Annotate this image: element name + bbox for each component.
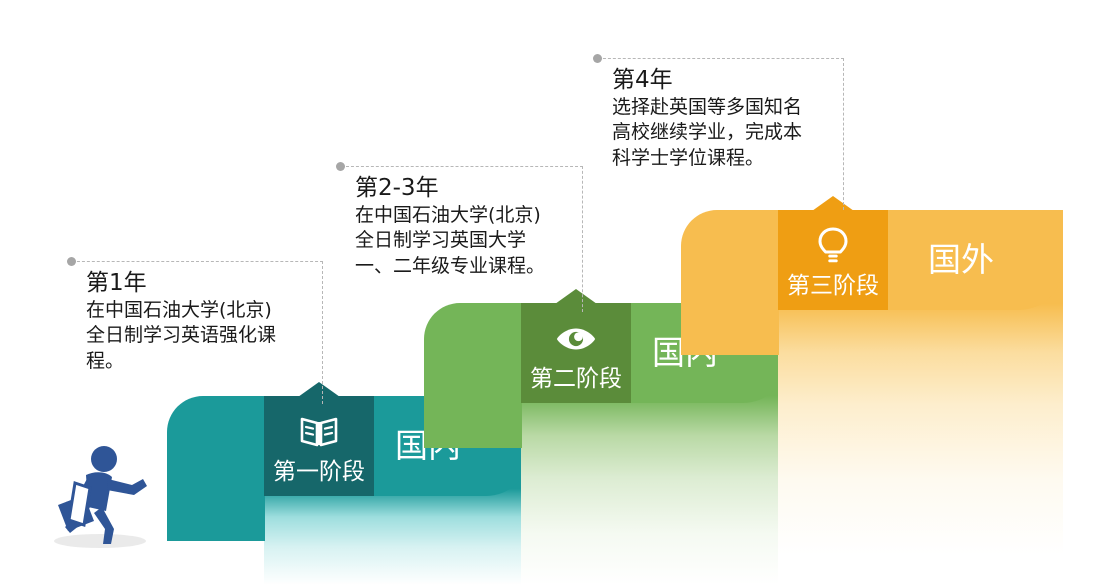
stage-1-label: 第一阶段	[273, 461, 365, 484]
note-line: 程。	[86, 349, 316, 374]
stage-3-riser	[681, 210, 779, 355]
stage-2-riser	[424, 303, 522, 448]
stage-3-region-label: 国外	[928, 243, 994, 276]
note-year-1: 第1年 在中国石油大学(北京) 全日制学习英语强化课 程。	[72, 261, 323, 404]
note-line: 科学士学位课程。	[612, 146, 837, 171]
stage-3-label: 第三阶段	[787, 275, 879, 298]
lightbulb-icon	[812, 226, 854, 266]
stage-2-label: 第二阶段	[530, 368, 622, 391]
note-year-2-3: 第2-3年 在中国石油大学(北京) 全日制学习英国大学 一、二年级专业课程。	[341, 166, 583, 312]
stage-3-step: 第三阶段 国外	[681, 210, 1063, 585]
note-line: 高校继续学业，完成本	[612, 120, 837, 145]
note-year-1-title: 第1年	[86, 270, 316, 297]
note-year-2-3-title: 第2-3年	[355, 175, 576, 202]
open-book-icon	[298, 412, 340, 452]
infographic-canvas: 第一阶段 国内 第二阶段 国内	[0, 0, 1097, 585]
note-line: 在中国石油大学(北京)	[86, 298, 316, 323]
stage-3-tab[interactable]: 第三阶段	[778, 210, 888, 310]
stage-2-tab[interactable]: 第二阶段	[521, 303, 631, 403]
note-year-1-body: 在中国石油大学(北京) 全日制学习英语强化课 程。	[86, 298, 316, 374]
note-year-4-dot	[593, 54, 602, 63]
note-line: 全日制学习英语强化课	[86, 323, 316, 348]
stage-1-tab[interactable]: 第一阶段	[264, 396, 374, 496]
note-year-1-dot	[67, 257, 76, 266]
note-year-2-3-dot	[336, 162, 345, 171]
eye-icon	[555, 319, 597, 359]
note-year-4: 第4年 选择赴英国等多国知名 高校继续学业，完成本 科学士学位课程。	[598, 58, 844, 210]
note-year-2-3-body: 在中国石油大学(北京) 全日制学习英国大学 一、二年级专业课程。	[355, 203, 576, 279]
note-year-4-body: 选择赴英国等多国知名 高校继续学业，完成本 科学士学位课程。	[612, 95, 837, 171]
running-student-with-briefcase-icon	[28, 441, 153, 551]
note-line: 在中国石油大学(北京)	[355, 203, 576, 228]
note-line: 全日制学习英国大学	[355, 228, 576, 253]
stage-1-riser	[167, 396, 265, 541]
note-line: 一、二年级专业课程。	[355, 254, 576, 279]
note-line: 选择赴英国等多国知名	[612, 95, 837, 120]
note-year-4-title: 第4年	[612, 67, 837, 94]
